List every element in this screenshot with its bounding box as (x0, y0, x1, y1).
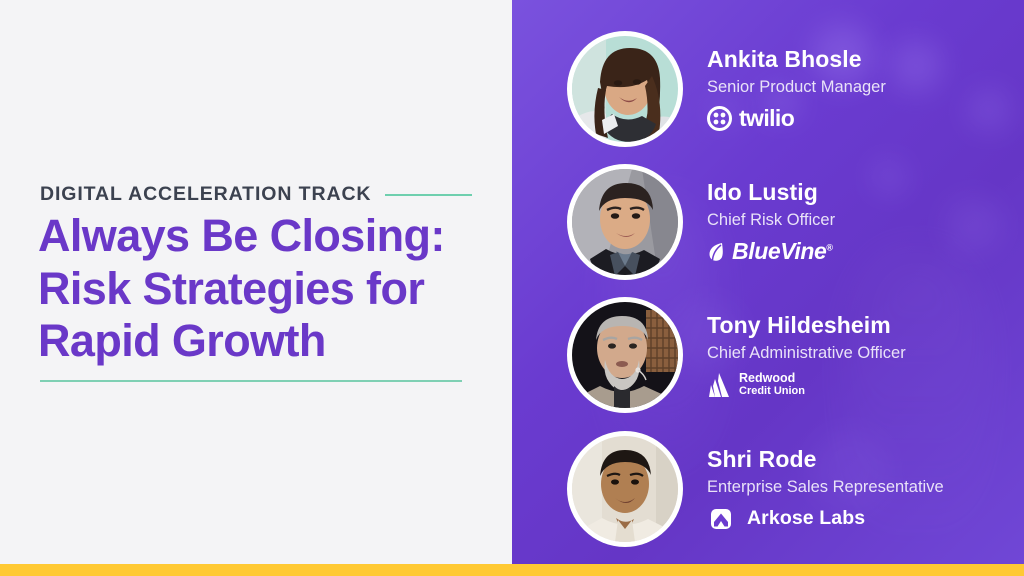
speaker-card[interactable]: Tony Hildesheim Chief Administrative Off… (512, 288, 1024, 422)
speaker-name: Shri Rode (707, 446, 944, 473)
company-logo: twilio (707, 106, 886, 132)
track-kicker-row: DIGITAL ACCELERATION TRACK (40, 185, 472, 205)
redwood-tree-icon (707, 372, 732, 398)
bottom-accent-bar (0, 564, 1024, 576)
speaker-title: Enterprise Sales Representative (707, 477, 944, 498)
track-kicker-label: DIGITAL ACCELERATION TRACK (40, 185, 371, 205)
speakers-panel: Ankita Bhosle Senior Product Manager twi… (512, 0, 1024, 564)
speaker-name: Tony Hildesheim (707, 312, 906, 339)
arkose-shield-icon (707, 505, 735, 533)
speaker-card[interactable]: Ido Lustig Chief Risk Officer BlueVine® (512, 155, 1024, 289)
speaker-title: Senior Product Manager (707, 77, 886, 98)
speaker-info: Tony Hildesheim Chief Administrative Off… (707, 312, 906, 398)
speaker-title: Chief Risk Officer (707, 210, 835, 231)
avatar (567, 431, 683, 547)
speaker-slide: DIGITAL ACCELERATION TRACK Always Be Clo… (0, 0, 1024, 576)
title-bottom-accent-rule (40, 380, 462, 382)
speaker-title: Chief Administrative Officer (707, 343, 906, 364)
company-logo: Arkose Labs (707, 506, 944, 532)
company-name: Redwood Credit Union (739, 372, 805, 397)
speaker-info: Shri Rode Enterprise Sales Representativ… (707, 446, 944, 532)
company-logo: BlueVine® (707, 239, 835, 265)
speaker-name: Ido Lustig (707, 179, 835, 206)
company-name: Arkose Labs (747, 507, 865, 530)
company-name-line2: Credit Union (739, 386, 805, 398)
company-logo: Redwood Credit Union (707, 372, 906, 398)
company-name: BlueVine® (732, 238, 833, 265)
page-title: Always Be Closing: Risk Strategies for R… (38, 210, 488, 368)
speaker-info: Ido Lustig Chief Risk Officer BlueVine® (707, 179, 835, 265)
avatar (567, 164, 683, 280)
avatar-photo (572, 36, 678, 142)
kicker-accent-rule (385, 194, 472, 196)
avatar-photo (572, 436, 678, 542)
avatar (567, 297, 683, 413)
company-name-line1: Redwood (739, 372, 805, 386)
company-name: twilio (739, 105, 794, 132)
speaker-name: Ankita Bhosle (707, 46, 886, 73)
bluevine-leaf-icon (707, 240, 725, 264)
speaker-card[interactable]: Shri Rode Enterprise Sales Representativ… (512, 422, 1024, 556)
speaker-info: Ankita Bhosle Senior Product Manager twi… (707, 46, 886, 132)
speaker-card[interactable]: Ankita Bhosle Senior Product Manager twi… (512, 22, 1024, 156)
left-title-panel: DIGITAL ACCELERATION TRACK Always Be Clo… (0, 0, 512, 564)
avatar-photo (572, 302, 678, 408)
avatar (567, 31, 683, 147)
twilio-logo-icon (707, 106, 732, 131)
avatar-photo (572, 169, 678, 275)
